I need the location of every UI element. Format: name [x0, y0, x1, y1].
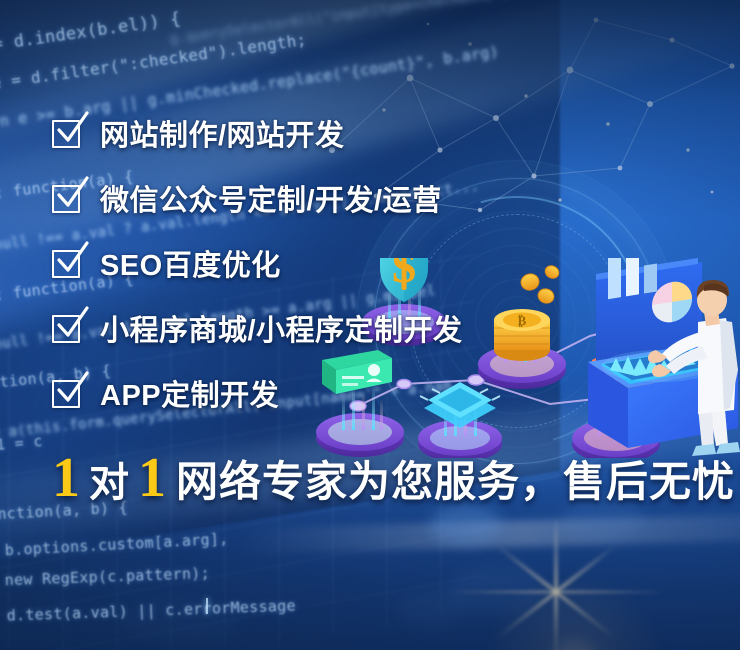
code-line: n d.test(a.val) || c.errorMessage	[0, 597, 296, 626]
headline-number-second: 1	[138, 450, 166, 506]
feature-label: 小程序商城/小程序定制开发	[100, 307, 463, 349]
promo-banner: g.querySelectorAll("input[type=checkbox]…	[0, 0, 740, 650]
headline-number-first: 1	[52, 450, 80, 506]
feature-item-seo[interactable]: SEO百度优化	[52, 230, 692, 295]
headline-middle-word: 对	[89, 463, 129, 503]
feature-label: SEO百度优化	[100, 242, 281, 284]
text-caret	[206, 598, 208, 614]
feature-label: 网站制作/网站开发	[100, 112, 345, 154]
headline: 1 对 1 网络专家为您服务，售后无忧！	[52, 450, 740, 506]
code-line: = b.options.custom[a.arg],	[0, 530, 229, 561]
feature-label: APP定制开发	[100, 372, 279, 414]
code-line: = new RegExp(c.pattern);	[0, 564, 210, 590]
checkbox-checked-icon[interactable]	[52, 248, 82, 278]
code-line: 1 = c	[0, 432, 43, 454]
checkbox-checked-icon[interactable]	[52, 378, 82, 408]
checkbox-checked-icon[interactable]	[52, 118, 82, 148]
feature-list: 网站制作/网站开发 微信公众号定制/开发/运营 SEO百度优化 小程序商城/小程…	[52, 100, 692, 425]
code-line: = d.index(b.el)) {	[0, 9, 182, 55]
feature-item-wechat[interactable]: 微信公众号定制/开发/运营	[52, 165, 692, 230]
feature-item-website[interactable]: 网站制作/网站开发	[52, 100, 692, 165]
feature-label: 微信公众号定制/开发/运营	[100, 177, 442, 219]
checkbox-checked-icon[interactable]	[52, 313, 82, 343]
feature-item-miniprogram[interactable]: 小程序商城/小程序定制开发	[52, 295, 692, 360]
feature-item-app[interactable]: APP定制开发	[52, 360, 692, 425]
checkbox-checked-icon[interactable]	[52, 183, 82, 213]
headline-tail-text: 网络专家为您服务，售后无忧！	[176, 461, 740, 503]
